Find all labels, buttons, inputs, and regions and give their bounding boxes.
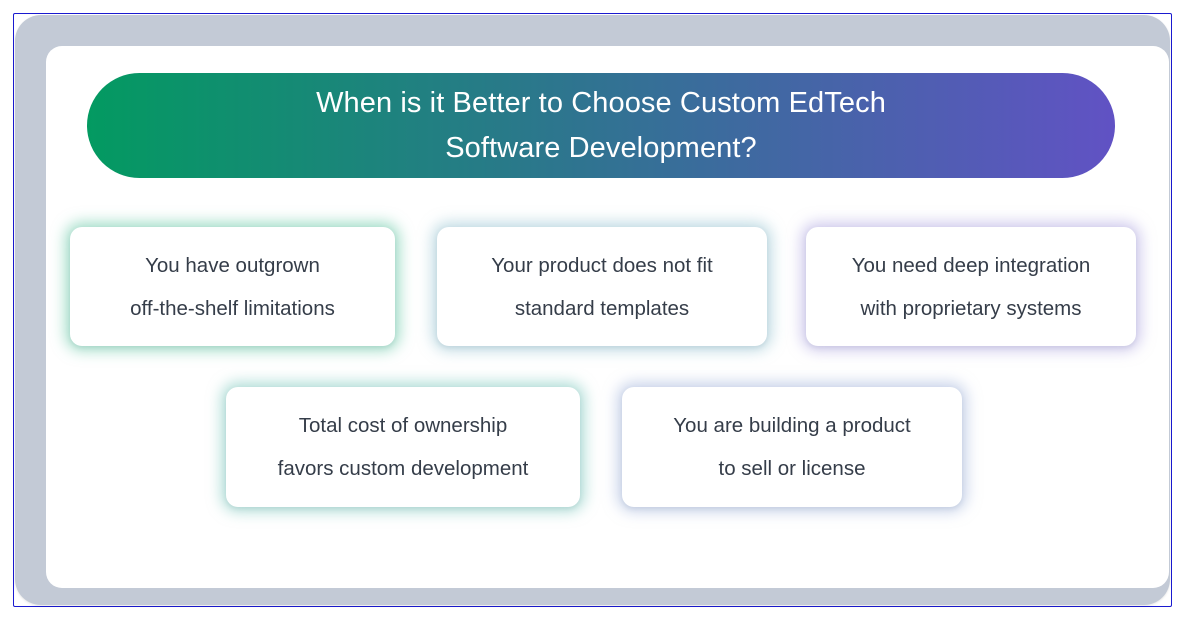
card-outgrown-limitations[interactable]: You have outgrown off-the-shelf limitati…	[70, 227, 395, 346]
card-label: You have outgrown off-the-shelf limitati…	[130, 244, 335, 330]
card-label: Total cost of ownership favors custom de…	[278, 404, 529, 490]
card-label: Your product does not fit standard templ…	[491, 244, 712, 330]
card-label: You are building a product to sell or li…	[673, 404, 910, 490]
card-total-cost-ownership[interactable]: Total cost of ownership favors custom de…	[226, 387, 580, 507]
infographic-canvas: When is it Better to Choose Custom EdTec…	[0, 0, 1201, 620]
card-deep-integration[interactable]: You need deep integration with proprieta…	[806, 227, 1136, 346]
header-banner: When is it Better to Choose Custom EdTec…	[87, 73, 1115, 178]
card-label: You need deep integration with proprieta…	[852, 244, 1091, 330]
card-standard-templates[interactable]: Your product does not fit standard templ…	[437, 227, 767, 346]
page-title: When is it Better to Choose Custom EdTec…	[316, 81, 886, 171]
card-sell-or-license[interactable]: You are building a product to sell or li…	[622, 387, 962, 507]
